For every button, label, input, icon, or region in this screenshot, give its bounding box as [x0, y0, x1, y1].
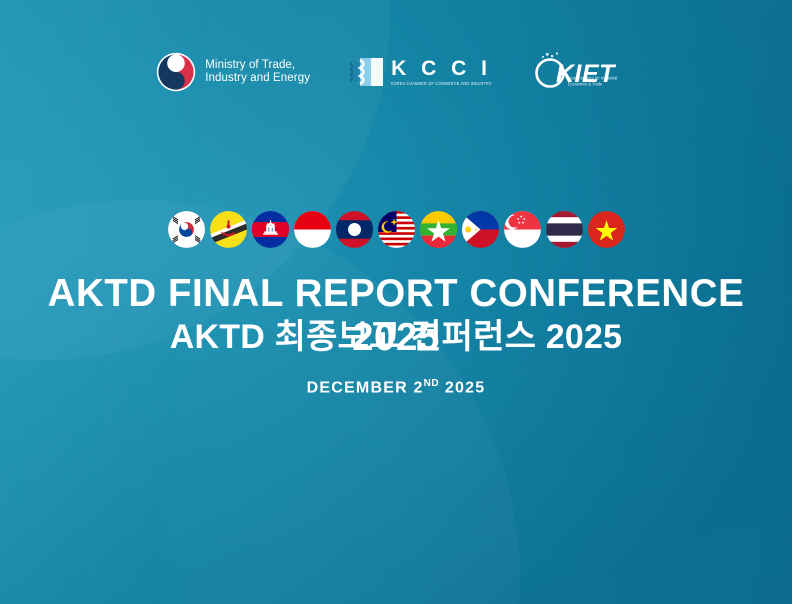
- logo-ministry-of-trade-industry-and-energy: Ministry of Trade, Industry and Energy: [156, 52, 310, 92]
- conference-date: DECEMBER 2ND 2025: [0, 374, 792, 398]
- flag-brunei: [210, 211, 247, 248]
- date-month: DECEMBER: [307, 379, 408, 396]
- kcci-type: K C C I KOREA CHAMBER OF COMMERCE AND IN…: [391, 58, 492, 86]
- motie-line-2: Industry and Energy: [205, 72, 310, 86]
- sponsor-logo-row: Ministry of Trade, Industry and Energy K…: [0, 44, 792, 100]
- taegeuk-icon: [156, 52, 196, 92]
- kiet-subtitle-line-2: Economics & Trade: [568, 82, 618, 88]
- kiet-subtitle: Korea Institute for Industrial Economics…: [568, 76, 618, 89]
- member-country-flag-row: [0, 211, 792, 248]
- flag-malaysia: [378, 211, 415, 248]
- flag-philippines: [462, 211, 499, 248]
- date-year: 2025: [445, 379, 485, 396]
- flag-cambodia: [252, 211, 289, 248]
- date-day: 2: [414, 379, 424, 396]
- flag-vietnam: [588, 211, 625, 248]
- date-ordinal-suffix: ND: [424, 378, 440, 389]
- kcci-subtitle: KOREA CHAMBER OF COMMERCE AND INDUSTRY: [391, 80, 492, 88]
- kcci-mark-icon: [350, 57, 384, 87]
- motie-line-1: Ministry of Trade,: [205, 59, 310, 73]
- kcci-wordmark: K C C I: [391, 58, 491, 79]
- flag-korea: [168, 211, 205, 248]
- flag-laos: [336, 211, 373, 248]
- flag-thailand: [546, 211, 583, 248]
- conference-title-korean: AKTD 최종보고 컨퍼런스 2025: [0, 317, 792, 357]
- logo-kcci: K C C I KOREA CHAMBER OF COMMERCE AND IN…: [350, 57, 492, 87]
- flag-singapore: [504, 211, 541, 248]
- motie-wordmark: Ministry of Trade, Industry and Energy: [205, 59, 310, 86]
- flag-indonesia: [294, 211, 331, 248]
- logo-kiet: KIET Korea Institute for Industrial Econ…: [532, 51, 636, 93]
- flag-myanmar: [420, 211, 457, 248]
- conference-title-slide: Ministry of Trade, Industry and Energy K…: [0, 0, 792, 604]
